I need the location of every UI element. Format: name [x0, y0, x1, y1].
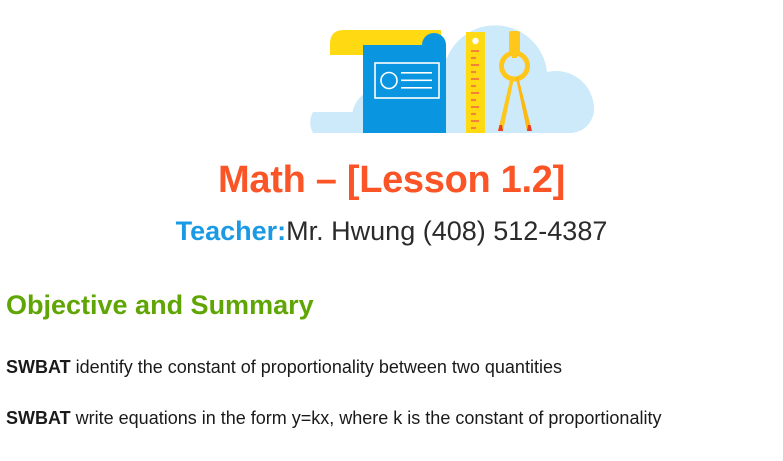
hero-illustration [0, 0, 783, 145]
section-heading-objective-summary: Objective and Summary [6, 289, 777, 321]
title-block: Math – [Lesson 1.2] Teacher:Mr. Hwung (4… [0, 161, 783, 247]
teacher-label: Teacher: [176, 216, 287, 246]
objective-item: SWBAT write equations in the form y=kx, … [6, 407, 777, 430]
content-block: Objective and Summary SWBAT identify the… [0, 289, 783, 430]
teacher-line: Teacher:Mr. Hwung (408) 512-4387 [0, 215, 783, 247]
page-title: Math – [Lesson 1.2] [0, 161, 783, 201]
swbat-prefix: SWBAT [6, 357, 71, 377]
ruler [466, 32, 485, 133]
teacher-name: Mr. Hwung (408) 512-4387 [286, 216, 607, 246]
swbat-prefix: SWBAT [6, 408, 71, 428]
lesson-handout-page: Math – [Lesson 1.2] Teacher:Mr. Hwung (4… [0, 0, 783, 461]
objective-text: write equations in the form y=kx, where … [71, 408, 662, 428]
objective-item: SWBAT identify the constant of proportio… [6, 356, 777, 379]
objective-text: identify the constant of proportionality… [71, 357, 562, 377]
math-tools-illustration [0, 0, 783, 145]
